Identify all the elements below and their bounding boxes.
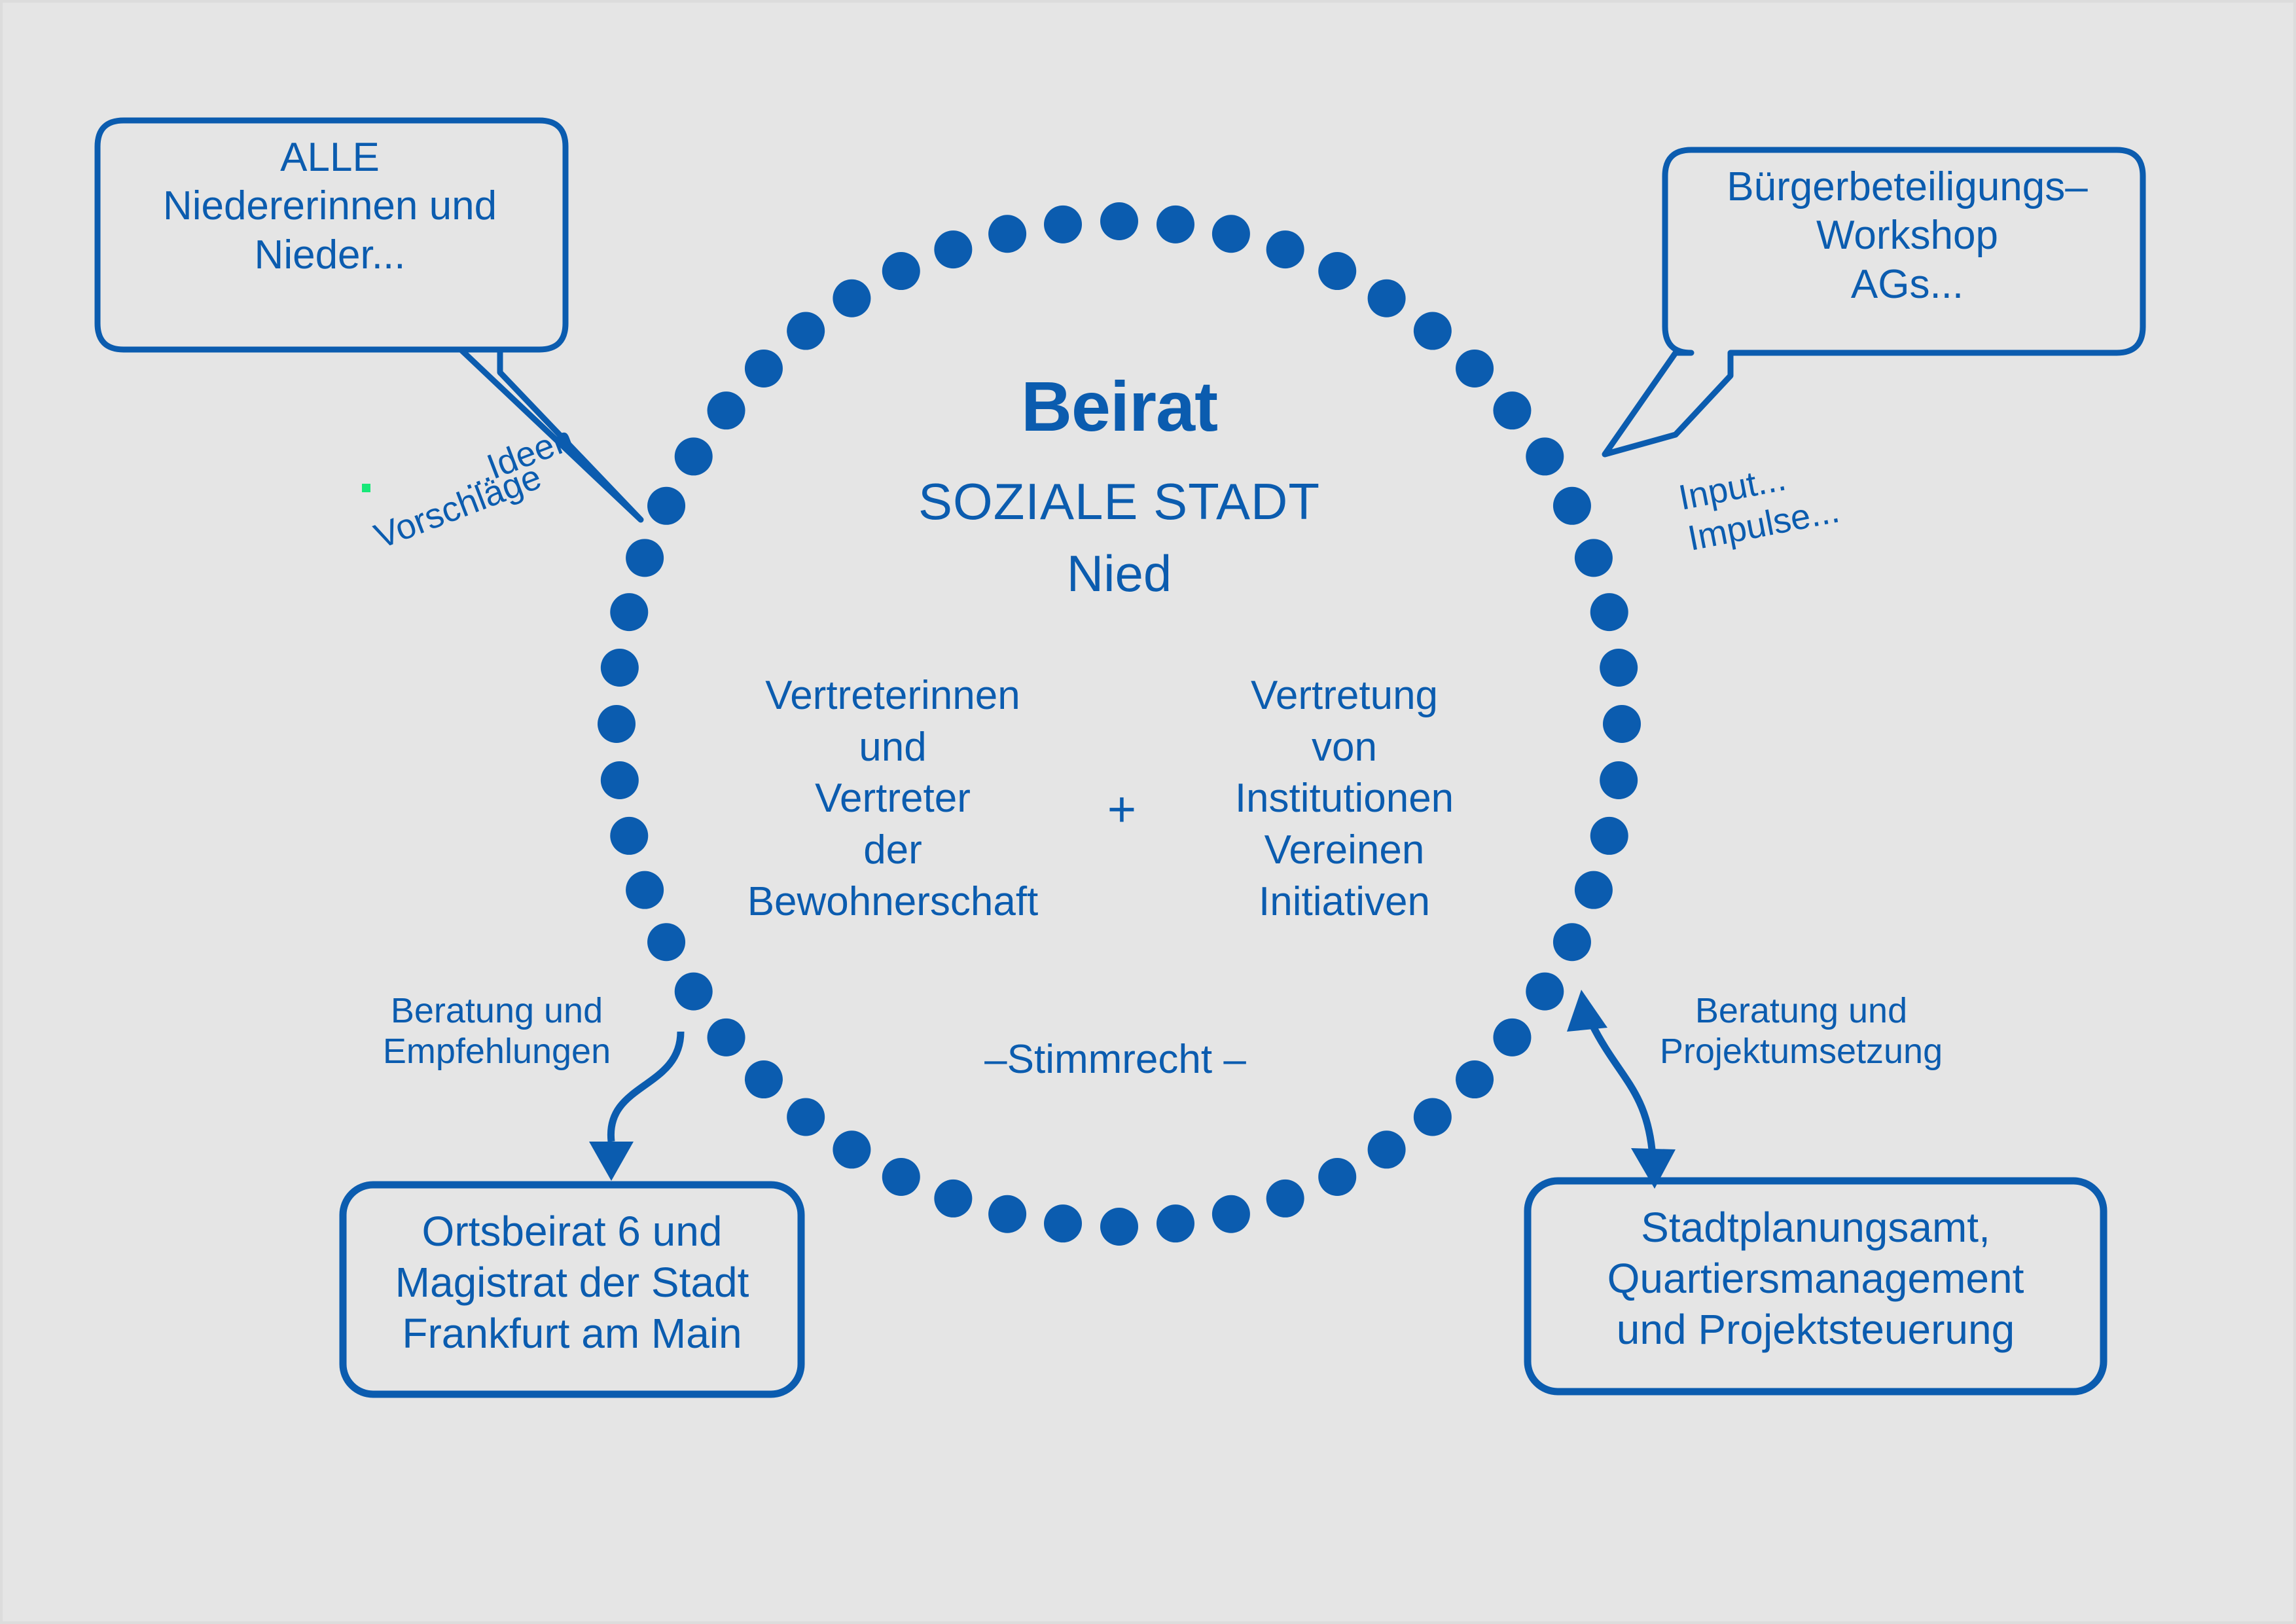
ring-dot [934, 230, 972, 268]
ring-dot [610, 593, 648, 631]
ring-dot [601, 761, 639, 799]
ring-dot [833, 1130, 870, 1168]
ring-dot [1157, 206, 1194, 244]
ring-dot [647, 923, 685, 961]
ring-dot [675, 973, 713, 1011]
ring-dot [1044, 206, 1082, 244]
ring-dot [1100, 202, 1138, 240]
ring-dot [1414, 1098, 1452, 1136]
ring-dot [1590, 817, 1628, 855]
ring-dot [647, 487, 685, 525]
speech-bubble-alle-outline [98, 120, 641, 520]
ring-dot [1212, 215, 1250, 253]
ring-dot [1266, 230, 1304, 268]
ring-dot [708, 1019, 745, 1056]
ring-dot [833, 280, 870, 317]
arrow-to-stadtplanungsamt [1567, 990, 1676, 1189]
ring-dot [1266, 1180, 1304, 1218]
speech-bubble-buergerbeteiligung-outline [1605, 150, 2143, 454]
ring-dot [1318, 252, 1356, 290]
ring-dot [598, 705, 636, 743]
ring-dot [745, 1060, 783, 1098]
ring-dot [787, 312, 825, 350]
box-ortsbeirat[interactable] [343, 1185, 801, 1394]
ring-dot [626, 871, 664, 909]
ring-dot [1575, 871, 1613, 909]
ring-dot [1368, 1130, 1406, 1168]
ring-dot [675, 437, 713, 475]
ring-dot [988, 215, 1026, 253]
speech-bubble-alle[interactable] [98, 120, 641, 520]
ring-dot [1318, 1158, 1356, 1196]
ring-dot [882, 252, 920, 290]
diagram-canvas: ALLE Niedererinnen und Nieder... Bürgerb… [0, 0, 2296, 1624]
ring-dot [934, 1180, 972, 1218]
ring-dot [708, 391, 745, 429]
ring-dot [988, 1195, 1026, 1233]
ring-dot [1044, 1204, 1082, 1242]
ring-dot [1526, 437, 1564, 475]
ring-dot [787, 1098, 825, 1136]
ring-dot [1553, 487, 1591, 525]
ring-dot [1368, 280, 1406, 317]
ring-dot [610, 817, 648, 855]
ring-dot [1553, 923, 1591, 961]
ring-dot [601, 649, 639, 687]
diagram-graphics [3, 3, 2296, 1624]
ring-dot [1526, 973, 1564, 1011]
ring-dot [1493, 1019, 1531, 1056]
stray-marker-dot [362, 484, 370, 492]
speech-bubble-buergerbeteiligung[interactable] [1605, 150, 2143, 454]
ring-dot [1456, 350, 1494, 388]
ring-dot [1414, 312, 1452, 350]
ring-dot [1100, 1208, 1138, 1246]
ring-dot [1575, 539, 1613, 577]
ring-dot [1590, 593, 1628, 631]
ring-dot [882, 1158, 920, 1196]
ring-dot [745, 350, 783, 388]
ring-dot [1456, 1060, 1494, 1098]
ring-dot [1600, 649, 1638, 687]
ring-dot [1157, 1204, 1194, 1242]
ring-dot [1600, 761, 1638, 799]
ring-dot [1603, 705, 1641, 743]
ring-dot [1493, 391, 1531, 429]
box-stadtplanungsamt[interactable] [1528, 1181, 2104, 1392]
ring-dot [626, 539, 664, 577]
arrow-to-ortsbeirat [589, 1032, 681, 1181]
ring-dot [1212, 1195, 1250, 1233]
dotted-circle-ring [598, 202, 1641, 1246]
